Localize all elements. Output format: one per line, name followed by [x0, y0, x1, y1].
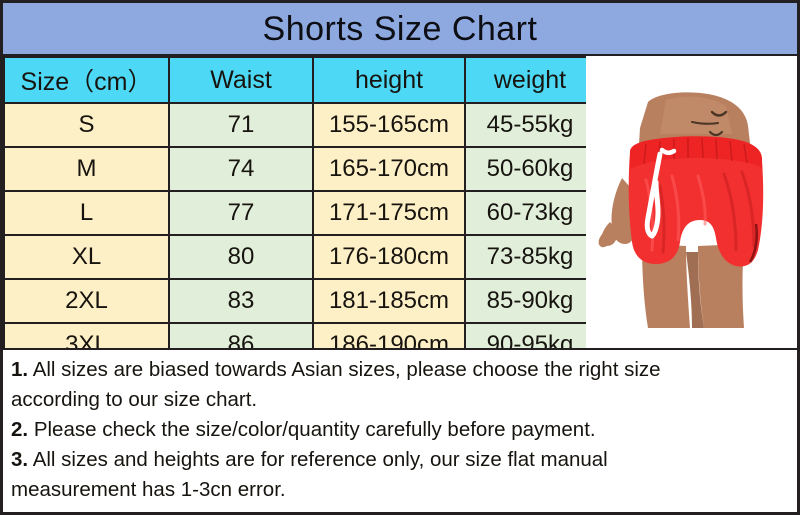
cell-height: 181-185cm [313, 279, 465, 323]
cell-waist: 74 [169, 147, 313, 191]
note-3-line-1: 3. All sizes and heights are for referen… [11, 445, 789, 475]
cell-waist: 77 [169, 191, 313, 235]
cell-size: L [4, 191, 169, 235]
cell-waist: 71 [169, 103, 313, 147]
cell-weight: 73-85kg [465, 235, 595, 279]
column-header-height: height [313, 57, 465, 103]
chart-title-bar: Shorts Size Chart [3, 3, 797, 56]
cell-weight: 50-60kg [465, 147, 595, 191]
cell-weight: 60-73kg [465, 191, 595, 235]
note-2-text: Please check the size/color/quantity car… [34, 418, 596, 441]
cell-size: 2XL [4, 279, 169, 323]
notes-section: 1. All sizes are biased towards Asian si… [3, 348, 797, 512]
note-2-number: 2. [11, 418, 28, 441]
table-row: S 71 155-165cm 45-55kg [4, 103, 595, 147]
table-row: XL 80 176-180cm 73-85kg [4, 235, 595, 279]
table-row: M 74 165-170cm 50-60kg [4, 147, 595, 191]
cell-height: 165-170cm [313, 147, 465, 191]
note-1-number: 1. [11, 358, 28, 381]
page-title: Shorts Size Chart [263, 12, 538, 46]
note-3-line-2: measurement has 1-3cn error. [11, 475, 789, 505]
cell-weight: 45-55kg [465, 103, 595, 147]
cell-size: XL [4, 235, 169, 279]
cell-waist: 83 [169, 279, 313, 323]
column-header-waist: Waist [169, 57, 313, 103]
size-chart-container: Shorts Size Chart Size（cm） Waist height … [0, 0, 800, 515]
column-header-weight: weight [465, 57, 595, 103]
note-3-number: 3. [11, 448, 28, 471]
size-table: Size（cm） Waist height weight S 71 155-16… [3, 56, 596, 368]
cell-waist: 80 [169, 235, 313, 279]
product-photo-illustration [586, 56, 797, 348]
table-header-row: Size（cm） Waist height weight [4, 57, 595, 103]
table-row: L 77 171-175cm 60-73kg [4, 191, 595, 235]
note-1-line-2: according to our size chart. [11, 385, 789, 415]
table-row: 2XL 83 181-185cm 85-90kg [4, 279, 595, 323]
cell-height: 176-180cm [313, 235, 465, 279]
note-1-line-1: 1. All sizes are biased towards Asian si… [11, 355, 789, 385]
cell-size: M [4, 147, 169, 191]
column-header-size: Size（cm） [4, 57, 169, 103]
note-3-text: All sizes and heights are for reference … [33, 448, 608, 471]
cell-weight: 85-90kg [465, 279, 595, 323]
cell-height: 155-165cm [313, 103, 465, 147]
product-photo [586, 56, 797, 348]
note-2-line-1: 2. Please check the size/color/quantity … [11, 415, 789, 445]
cell-size: S [4, 103, 169, 147]
note-1-text: All sizes are biased towards Asian sizes… [33, 358, 661, 381]
cell-height: 171-175cm [313, 191, 465, 235]
